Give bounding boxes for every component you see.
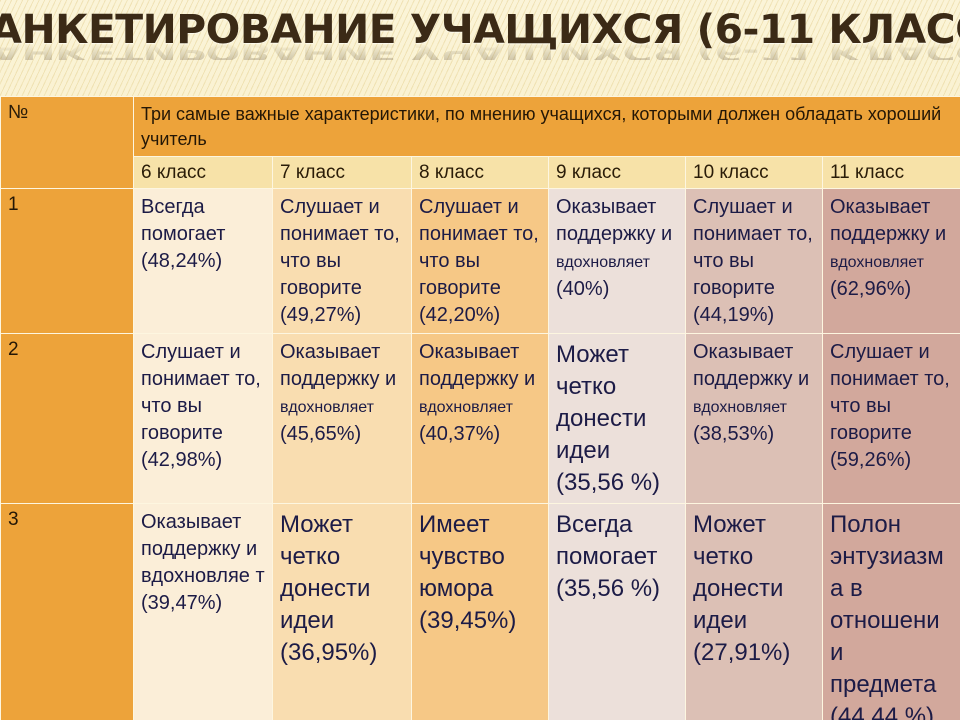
table-header-row-grades: 6 класс 7 класс 8 класс 9 класс 10 класс…: [1, 157, 960, 189]
characteristic-cell-grade-8-rank-1: Слушает и понимает то, что вы говорите (…: [412, 189, 549, 334]
survey-results-table: № Три самые важные характеристики, по мн…: [0, 96, 960, 720]
characteristic-cell-grade-11-rank-2: Слушает и понимает то, что вы говорите (…: [823, 334, 960, 504]
cell-text: Оказывает поддержку и вдохновляет (40,37…: [419, 339, 541, 448]
cell-text: Всегда помогает (48,24%): [141, 194, 265, 275]
characteristic-cell-grade-10-rank-2: Оказывает поддержку и вдохновляет (38,53…: [686, 334, 823, 504]
rank-cell: 2: [1, 334, 134, 504]
rank-cell: 3: [1, 504, 134, 720]
slide-canvas: Анкетирование учащихся (6-11 классы) Анк…: [0, 0, 960, 720]
characteristic-cell-grade-6-rank-3: Оказывает поддержку и вдохновляе т (39,4…: [134, 504, 273, 720]
cell-text: Оказывает поддержку и вдохновляет (45,65…: [280, 339, 404, 448]
cell-text-emphasis: вдохновляет: [419, 399, 513, 416]
cell-text: Оказывает поддержку и вдохновляет (38,53…: [693, 339, 815, 448]
column-header-grade-10: 10 класс: [686, 157, 823, 189]
table-body: 1Всегда помогает (48,24%)Слушает и поним…: [1, 189, 960, 720]
cell-text-emphasis: вдохновляет: [693, 399, 787, 416]
cell-text-emphasis: вдохновляет: [556, 254, 650, 271]
column-header-grade-7: 7 класс: [273, 157, 412, 189]
cell-text-emphasis: вдохновляет: [830, 254, 924, 271]
cell-text: Всегда помогает (35,56 %): [556, 509, 678, 605]
cell-text: Слушает и понимает то, что вы говорите (…: [419, 194, 541, 329]
characteristic-cell-grade-9-rank-2: Может четко донести идеи (35,56 %): [549, 334, 686, 504]
cell-text: Может четко донести идеи (36,95%): [280, 509, 404, 669]
table-row: 1Всегда помогает (48,24%)Слушает и поним…: [1, 189, 960, 334]
page-title: Анкетирование учащихся (6-11 классы): [0, 2, 960, 58]
cell-text: Слушает и понимает то, что вы говорите (…: [693, 194, 815, 329]
column-header-grade-6: 6 класс: [134, 157, 273, 189]
column-header-grade-8: 8 класс: [412, 157, 549, 189]
table-row: 3Оказывает поддержку и вдохновляе т (39,…: [1, 504, 960, 720]
column-header-grade-11: 11 класс: [823, 157, 960, 189]
cell-text: Оказывает поддержку и вдохновляет (40%): [556, 194, 678, 303]
characteristic-cell-grade-8-rank-3: Имеет чувство юмора (39,45%): [412, 504, 549, 720]
cell-text: Слушает и понимает то, что вы говорите (…: [280, 194, 404, 329]
rank-cell: 1: [1, 189, 134, 334]
characteristic-cell-grade-7-rank-3: Может четко донести идеи (36,95%): [273, 504, 412, 720]
cell-text: Может четко донести идеи (27,91%): [693, 509, 815, 669]
cell-text: Оказывает поддержку и вдохновляет (62,96…: [830, 194, 953, 303]
characteristic-cell-grade-9-rank-1: Оказывает поддержку и вдохновляет (40%): [549, 189, 686, 334]
cell-text: Может четко донести идеи (35,56 %): [556, 339, 678, 499]
table-header: № Три самые важные характеристики, по мн…: [1, 97, 960, 189]
characteristic-cell-grade-6-rank-2: Слушает и понимает то, что вы говорите (…: [134, 334, 273, 504]
cell-text-emphasis: вдохновляет: [280, 399, 374, 416]
characteristic-cell-grade-10-rank-1: Слушает и понимает то, что вы говорите (…: [686, 189, 823, 334]
characteristic-cell-grade-7-rank-2: Оказывает поддержку и вдохновляет (45,65…: [273, 334, 412, 504]
slide-title-block: Анкетирование учащихся (6-11 классы) Анк…: [0, 2, 960, 94]
characteristic-cell-grade-10-rank-3: Может четко донести идеи (27,91%): [686, 504, 823, 720]
cell-text: Имеет чувство юмора (39,45%): [419, 509, 541, 637]
cell-text: Слушает и понимает то, что вы говорите (…: [830, 339, 953, 474]
characteristic-cell-grade-11-rank-3: Полон энтузиазма в отношени и предмета (…: [823, 504, 960, 720]
cell-text: Оказывает поддержку и вдохновляе т (39,4…: [141, 509, 265, 617]
characteristic-cell-grade-6-rank-1: Всегда помогает (48,24%): [134, 189, 273, 334]
characteristic-cell-grade-7-rank-1: Слушает и понимает то, что вы говорите (…: [273, 189, 412, 334]
column-header-main-question: Три самые важные характеристики, по мнен…: [134, 97, 960, 157]
column-header-grade-9: 9 класс: [549, 157, 686, 189]
table-row: 2Слушает и понимает то, что вы говорите …: [1, 334, 960, 504]
cell-text: Слушает и понимает то, что вы говорите (…: [141, 339, 265, 474]
column-header-number: №: [1, 97, 134, 189]
characteristic-cell-grade-8-rank-2: Оказывает поддержку и вдохновляет (40,37…: [412, 334, 549, 504]
cell-text: Полон энтузиазма в отношени и предмета (…: [830, 509, 953, 720]
characteristic-cell-grade-9-rank-3: Всегда помогает (35,56 %): [549, 504, 686, 720]
characteristic-cell-grade-11-rank-1: Оказывает поддержку и вдохновляет (62,96…: [823, 189, 960, 334]
table-header-row-main: № Три самые важные характеристики, по мн…: [1, 97, 960, 157]
